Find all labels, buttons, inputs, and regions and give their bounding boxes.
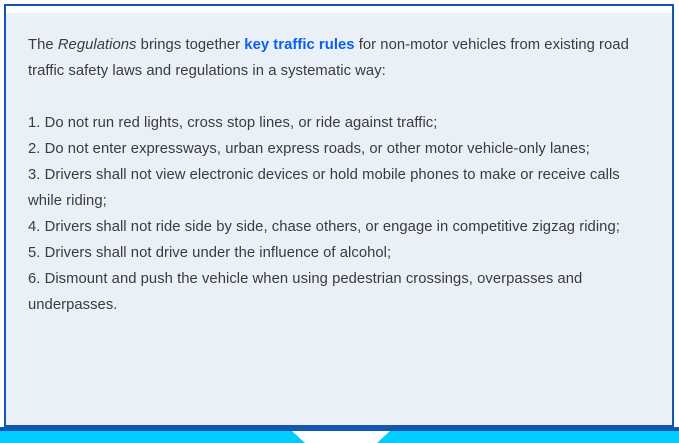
bottom-cyan-bar xyxy=(0,431,679,443)
slide-root: The Regulations brings together key traf… xyxy=(0,0,679,443)
paragraph-spacer xyxy=(28,84,646,110)
content-panel: The Regulations brings together key traf… xyxy=(6,13,672,425)
content-card: The Regulations brings together key traf… xyxy=(4,4,674,427)
rule-item-1: 1. Do not run red lights, cross stop lin… xyxy=(28,110,646,136)
cyan-bar-right-segment xyxy=(377,431,679,443)
regulations-title-emphasis: Regulations xyxy=(58,37,137,53)
rule-item-5: 5. Drivers shall not drive under the inf… xyxy=(28,240,646,266)
rule-item-4: 4. Drivers shall not ride side by side, … xyxy=(28,214,646,240)
cyan-bar-left-segment xyxy=(0,431,305,443)
intro-paragraph: The Regulations brings together key traf… xyxy=(28,32,646,84)
cyan-bar-shape xyxy=(0,431,679,443)
intro-prefix: The xyxy=(28,37,58,53)
intro-middle: brings together xyxy=(137,37,245,53)
body-text: The Regulations brings together key traf… xyxy=(28,32,646,318)
rule-item-3: 3. Drivers shall not view electronic dev… xyxy=(28,162,646,214)
rule-item-2: 2. Do not enter expressways, urban expre… xyxy=(28,136,646,162)
key-traffic-rules-highlight: key traffic rules xyxy=(244,37,354,53)
rule-item-6: 6. Dismount and push the vehicle when us… xyxy=(28,266,646,318)
